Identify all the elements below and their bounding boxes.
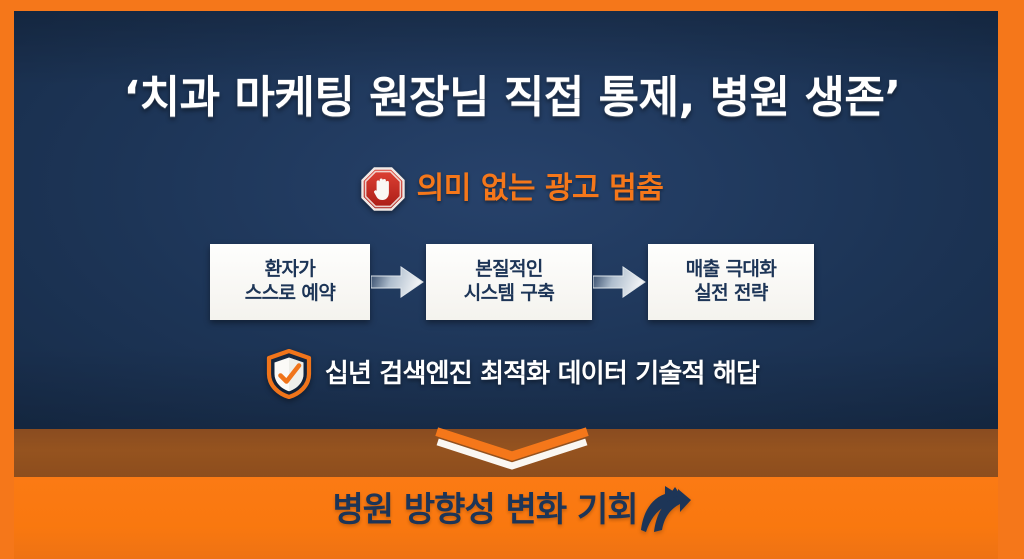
assurance-label: 십년 검색엔진 최적화 데이터 기술적 해답 <box>325 361 759 387</box>
right-arrow-icon <box>370 262 426 302</box>
stop-notice-label: 의미 없는 광고 멈춤 <box>417 174 664 204</box>
stop-notice: 의미 없는 광고 멈춤 <box>0 167 1024 211</box>
flow-step-2-line1: 본질적인 <box>475 258 543 282</box>
process-flow: 환자가 스스로 예약 본질적인 시스템 구축 <box>0 244 1024 320</box>
flow-step-1-line2: 스스로 예약 <box>245 282 335 306</box>
flow-step-2: 본질적인 시스템 구축 <box>426 244 592 320</box>
flow-step-3-line1: 매출 극대화 <box>686 258 776 282</box>
flow-step-3-line2: 실전 전략 <box>694 282 768 306</box>
brown-divider-band <box>14 429 998 477</box>
assurance-statement: 십년 검색엔진 최적화 데이터 기술적 해답 <box>0 349 1024 399</box>
page-title: ‘치과 마케팅 원장님 직접 통제, 병원 생존’ <box>0 76 1024 120</box>
stop-hand-icon <box>361 167 405 211</box>
curved-up-arrow-icon <box>642 484 692 536</box>
flow-step-3: 매출 극대화 실전 전략 <box>648 244 814 320</box>
footer-message: 병원 방향성 변화 기회 <box>0 484 1024 536</box>
right-arrow-icon <box>592 262 648 302</box>
flow-step-2-line2: 시스템 구축 <box>464 282 554 306</box>
footer-label: 병원 방향성 변화 기회 <box>332 493 637 527</box>
flow-step-1-line1: 환자가 <box>265 258 316 282</box>
flow-step-1: 환자가 스스로 예약 <box>210 244 370 320</box>
shield-check-icon <box>265 349 313 399</box>
infographic-canvas: ‘치과 마케팅 원장님 직접 통제, 병원 생존’ 의미 없는 광고 멈춤 환자… <box>0 0 1024 559</box>
